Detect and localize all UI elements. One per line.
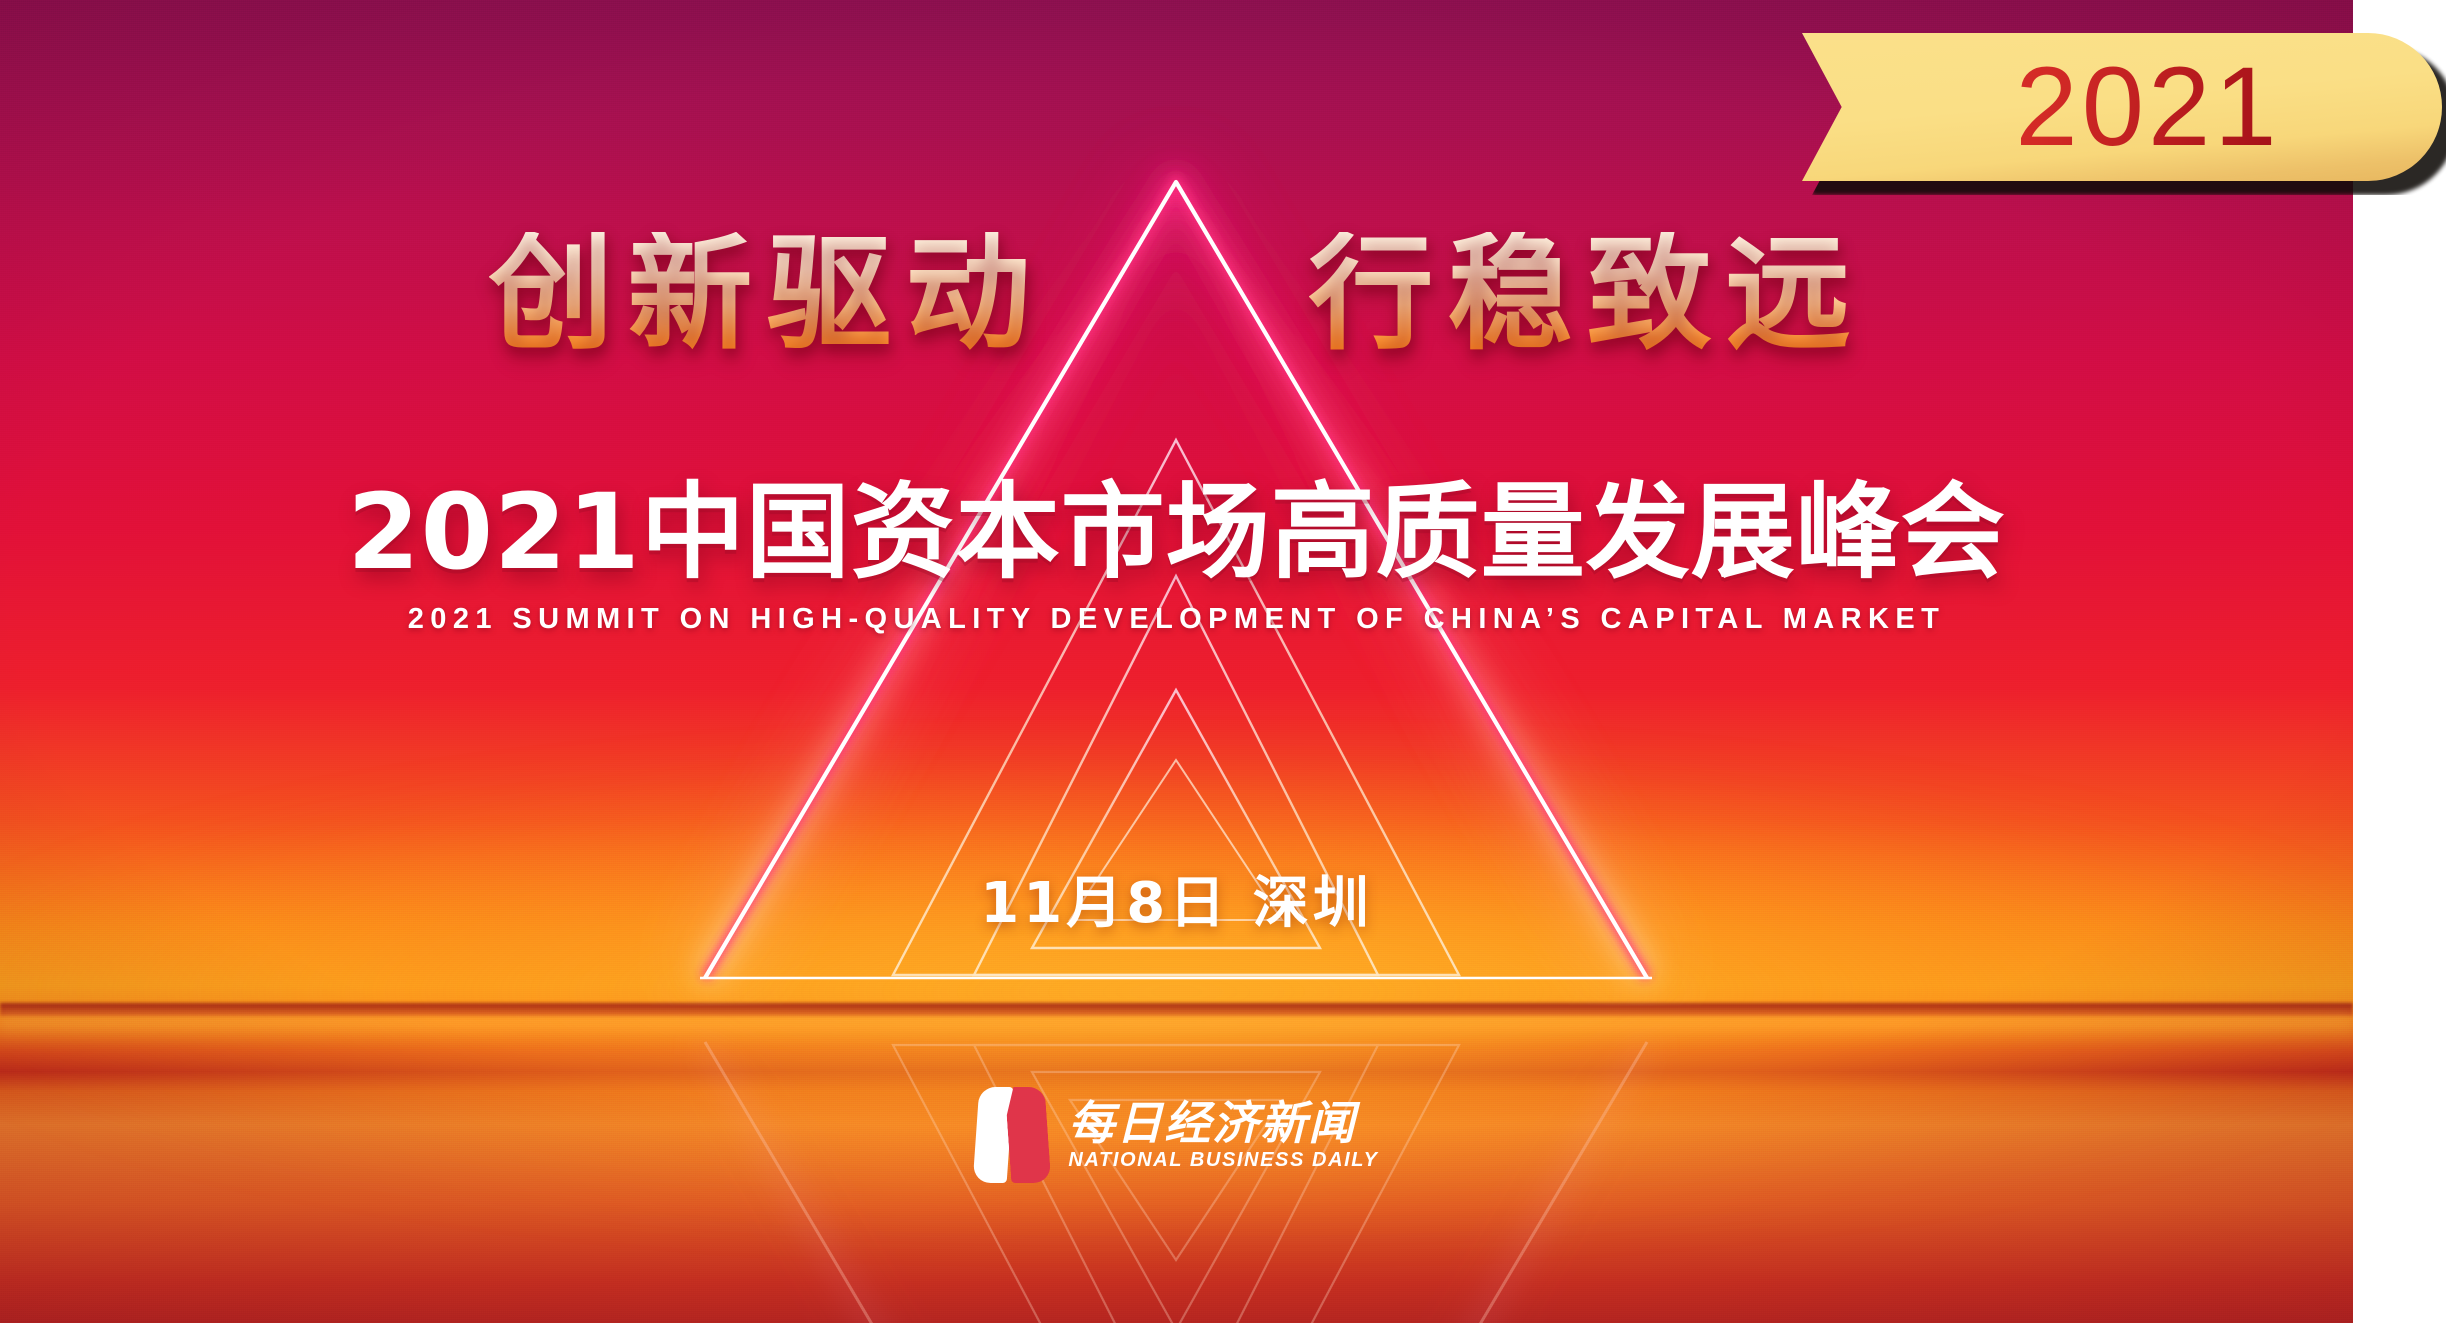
logo-wordmark: 每日经济新闻 NATIONAL BUSINESS DAILY	[1068, 1100, 1378, 1170]
year-badge-label: 2021	[1802, 33, 2442, 181]
logo-chinese-name: 每日经济新闻	[1068, 1100, 1378, 1146]
nbd-monogram-icon	[974, 1087, 1052, 1183]
year-badge: 2021	[1802, 33, 2446, 181]
nbd-logo: 每日经济新闻 NATIONAL BUSINESS DAILY	[0, 1087, 2353, 1183]
logo-english-name: NATIONAL BUSINESS DAILY	[1068, 1150, 1378, 1170]
monogram-red-stroke	[1005, 1087, 1052, 1183]
date-location: 11月8日 深圳	[0, 876, 2353, 932]
event-banner: 创新驱动 行稳致远 2021中国资本市场高质量发展峰会 2021 SUMMIT …	[0, 0, 2353, 1323]
subtitle: 2021 SUMMIT ON HIGH-QUALITY DEVELOPMENT …	[0, 605, 2353, 634]
page-title: 2021中国资本市场高质量发展峰会	[0, 480, 2353, 584]
monogram-white-stroke	[973, 1087, 1014, 1183]
